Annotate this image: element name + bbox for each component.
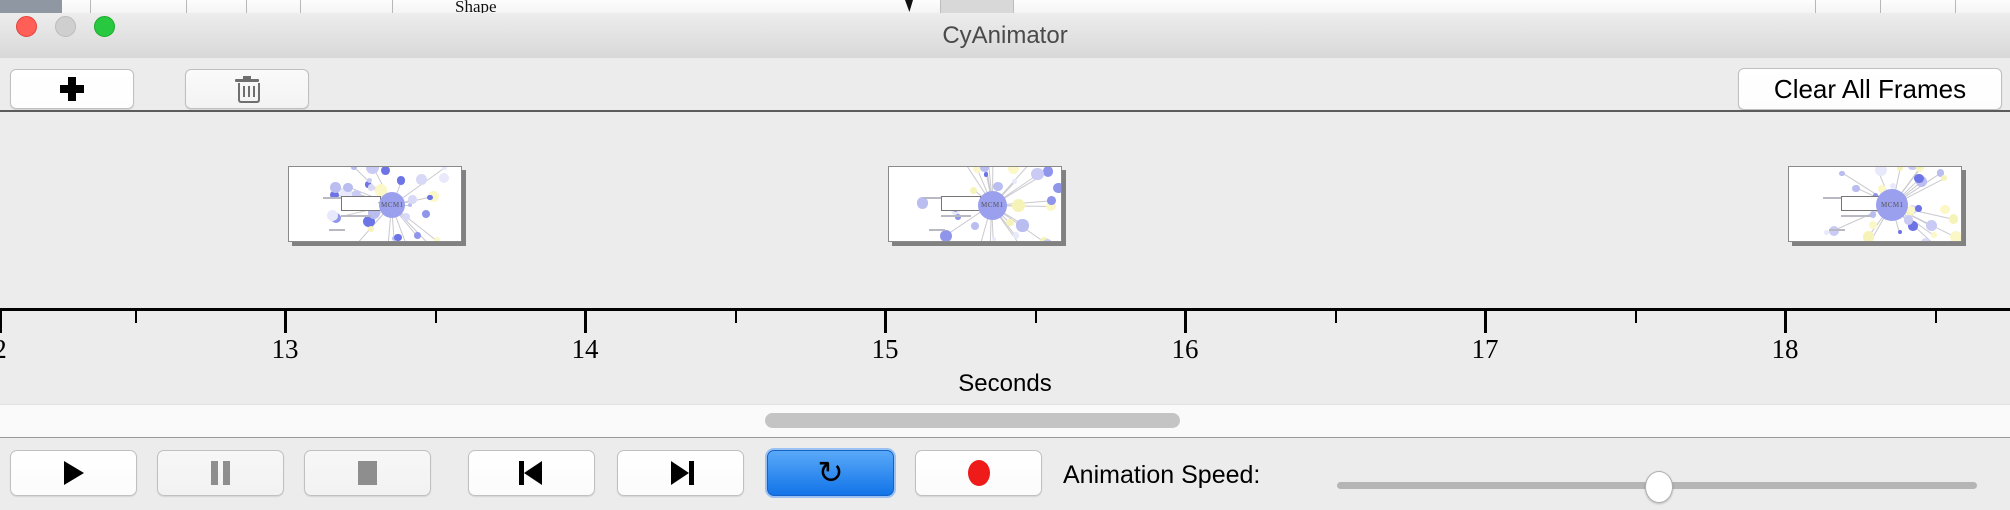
graph-node [940,230,953,242]
graph-node [408,195,417,204]
tick-label: 13 [272,334,299,365]
graph-node [1012,179,1017,184]
graph-node [343,183,353,193]
tick-major [1484,311,1487,333]
play-icon [64,461,84,485]
graph-node [1941,175,1947,181]
trash-icon [235,76,259,102]
skip-to-end-button[interactable] [617,450,744,496]
graph-node [993,182,1003,192]
tick-minor [435,311,437,323]
graph-node [1904,215,1914,225]
graph-node [1043,166,1054,177]
scrollbar-thumb[interactable] [765,413,1180,428]
graph-hub-label: MCM1 [381,201,404,209]
graph-node [1006,219,1014,227]
graph-node [416,174,427,185]
clear-all-frames-button[interactable]: Clear All Frames [1738,68,2002,110]
graph-node [1949,214,1959,224]
graph-hub-label: MCM1 [1881,201,1904,209]
tick-major [0,311,2,333]
graph-node [1016,219,1028,231]
graph-node [1926,220,1937,231]
graph-node [351,166,357,170]
toolbar: Clear All Frames [0,58,2010,110]
horizontal-scrollbar[interactable] [0,404,2010,439]
graph-tooltip [341,196,381,211]
tick-major [1784,311,1787,333]
play-button[interactable] [10,450,137,496]
graph-node [330,182,340,192]
tick-label: 2 [0,334,7,365]
graph-node [381,166,390,175]
record-button[interactable] [915,450,1042,496]
loop-button[interactable]: ↻ [767,450,894,496]
network-graph-preview: MCM1 [889,167,1061,241]
tick-label: 18 [1772,334,1799,365]
axis-title: Seconds [0,370,2010,398]
graph-node [1012,199,1025,212]
graph-node [367,178,372,183]
tick-minor [735,311,737,323]
graph-node [1013,232,1020,239]
graph-node [1931,232,1938,239]
graph-node [434,237,440,242]
timeline-axis [0,308,2010,311]
graph-node [1863,231,1874,242]
frame-thumbnail[interactable]: MCM1 [1788,166,1962,242]
cyanimator-window: Shape CyAnimator Clear All Frames MCM1MC… [0,0,2010,510]
graph-node [1897,166,1903,171]
graph-node [427,195,432,200]
skip-forward-icon [668,461,694,485]
clear-all-frames-label: Clear All Frames [1774,74,1966,105]
graph-node [971,222,979,230]
pause-icon [211,461,231,485]
graph-node [1824,230,1829,235]
tick-major [284,311,287,333]
frame-thumbnail[interactable]: MCM1 [288,166,462,242]
tick-major [584,311,587,333]
graph-node [1915,205,1922,212]
pause-button[interactable] [157,450,284,496]
graph-hub-label: MCM1 [981,201,1004,209]
graph-node [1914,174,1923,183]
graph-node [442,166,447,170]
tick-minor [1935,311,1937,323]
graph-text-line [941,215,971,217]
stop-icon [358,461,377,485]
skip-back-icon [519,461,545,485]
graph-node [1940,205,1950,215]
graph-text-line [341,215,371,217]
graph-text-line [1829,229,1845,231]
graph-text-line [329,229,345,231]
animation-speed-label: Animation Speed: [1063,461,1260,490]
graph-node [394,234,402,242]
add-frame-button[interactable] [10,69,134,109]
graph-node [1921,238,1930,242]
graph-tooltip [941,196,981,211]
tick-label: 16 [1172,334,1199,365]
background-dark-block [0,0,62,13]
graph-node [414,232,421,239]
animation-speed-slider-knob[interactable] [1645,471,1673,503]
tick-major [884,311,887,333]
graph-node [992,237,996,241]
delete-frame-button[interactable] [185,69,309,109]
graph-text-line [929,229,945,231]
skip-to-start-button[interactable] [468,450,595,496]
tick-minor [1035,311,1037,323]
loop-icon: ↻ [818,458,844,489]
graph-node [397,176,406,185]
graph-node [1898,230,1903,235]
tick-label: 14 [572,334,599,365]
graph-node [1950,231,1962,242]
graph-node [368,226,374,232]
graph-node [1852,185,1860,193]
graph-node [366,166,379,174]
graph-node [1053,183,1062,194]
tick-minor [1335,311,1337,323]
graph-node [439,173,449,183]
timeline-panel[interactable]: MCM1MCM1MCM1 2131415161718 Seconds [0,112,2010,407]
network-graph-preview: MCM1 [1789,167,1961,241]
plus-icon [59,76,85,102]
network-graph-preview: MCM1 [289,167,461,241]
window-title: CyAnimator [0,13,2010,58]
graph-node [422,210,430,218]
tick-label: 17 [1472,334,1499,365]
tick-minor [1635,311,1637,323]
graph-node [1829,226,1839,236]
graph-tooltip [1841,196,1881,211]
tick-major [1184,311,1187,333]
playback-controls: ↻ Animation Speed: [0,438,2010,510]
graph-text-line [1841,215,1871,217]
graph-node [1869,221,1877,229]
graph-node [917,197,929,209]
bg-cursor-arrow-icon [905,0,913,12]
graph-node [1043,239,1052,242]
stop-button[interactable] [304,450,431,496]
graph-node [1047,196,1056,205]
tick-minor [135,311,137,323]
record-icon [968,460,990,486]
frame-thumbnail[interactable]: MCM1 [888,166,1062,242]
graph-node [1839,171,1844,176]
graph-node [368,184,374,190]
graph-node [327,210,338,221]
tick-label: 15 [872,334,899,365]
graph-node [1875,166,1887,176]
graph-node [1031,168,1044,181]
graph-node [1008,166,1019,174]
